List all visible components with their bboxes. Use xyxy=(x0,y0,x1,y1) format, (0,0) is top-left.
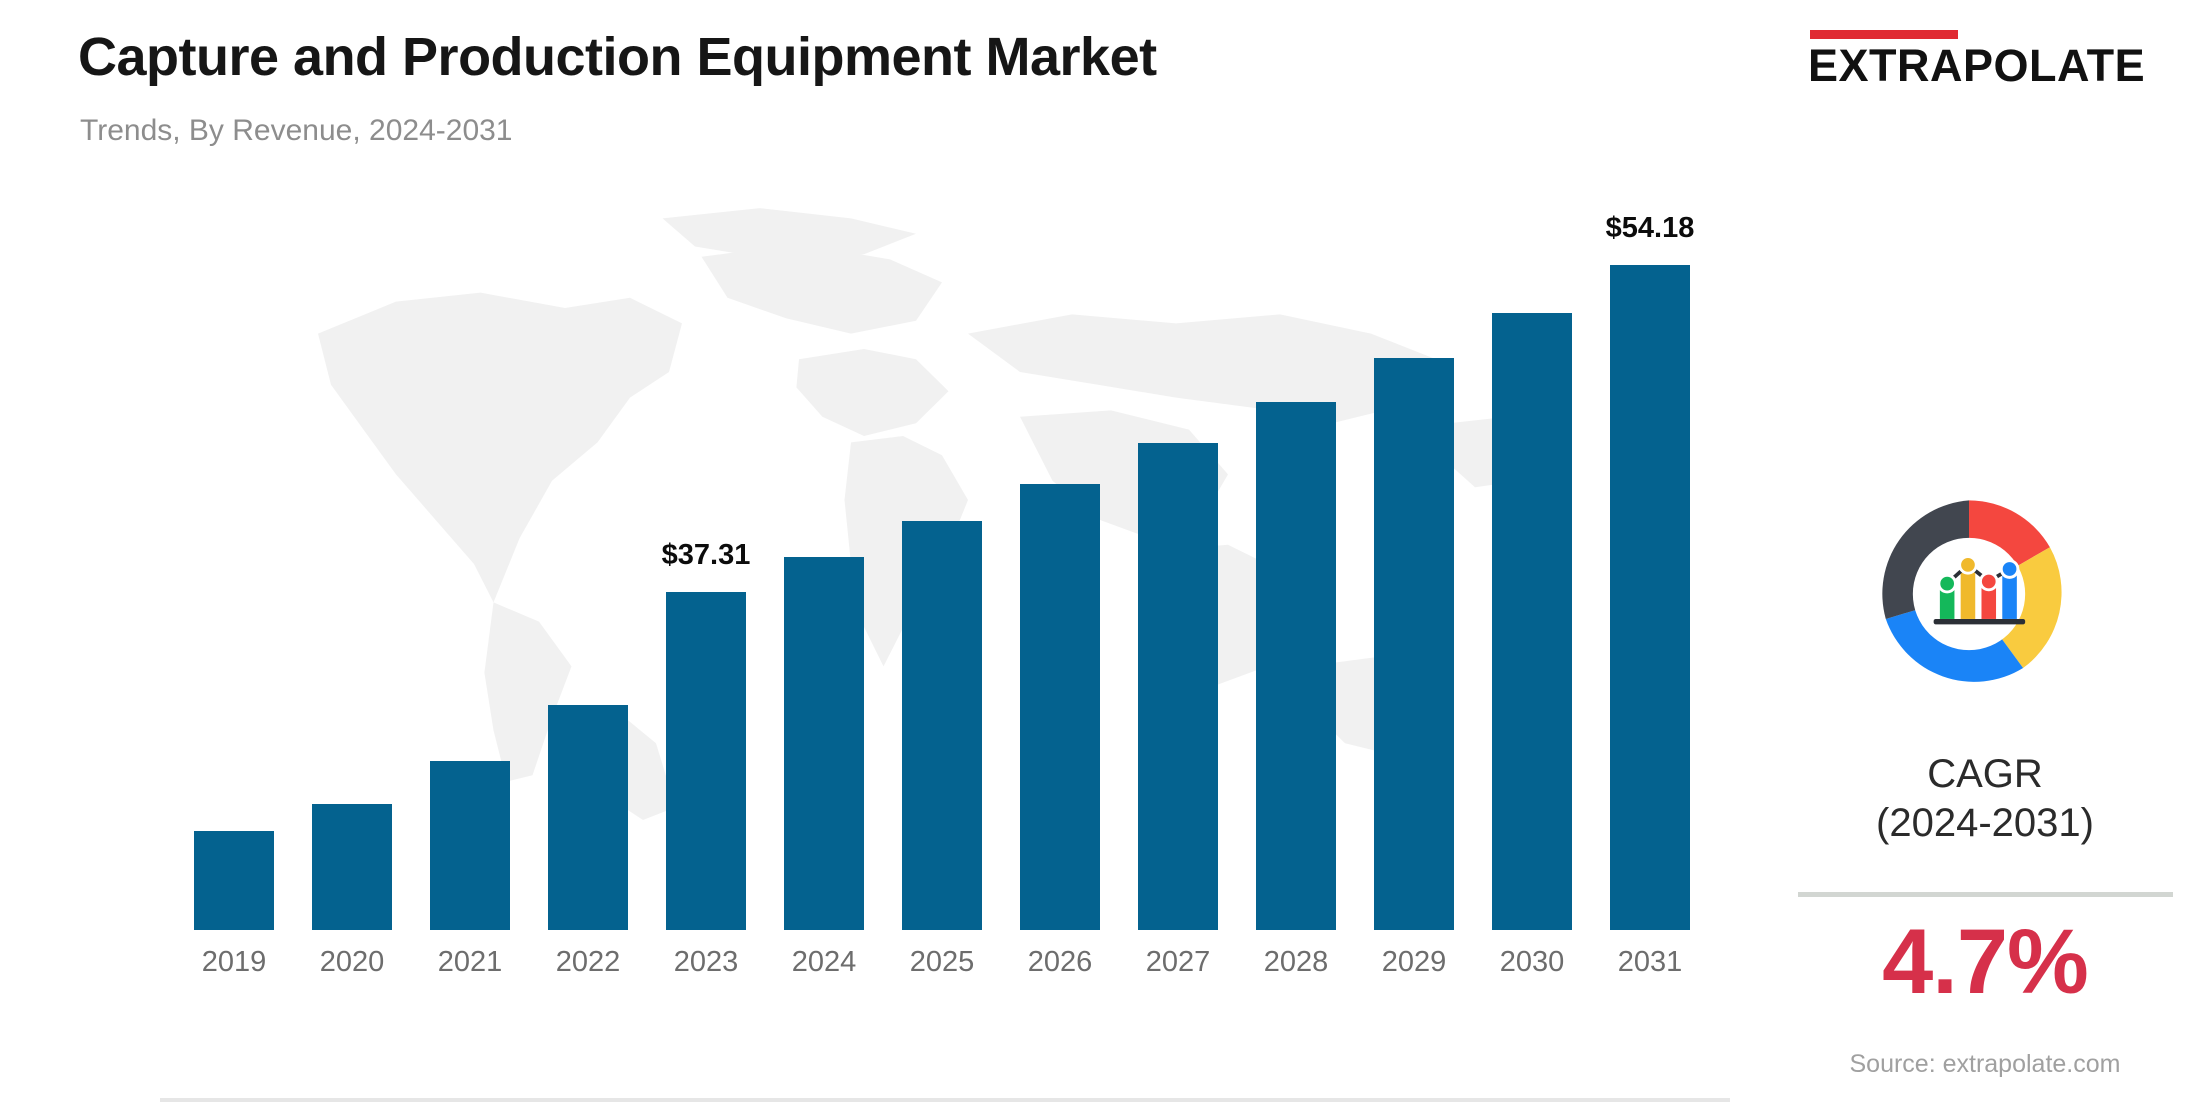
plot-area: 20192020202120222023$37.3120242025202620… xyxy=(175,210,1720,930)
logo-accent-bar xyxy=(1810,30,1958,39)
x-tick-2021: 2021 xyxy=(411,946,529,979)
bar-group-2029[interactable]: 2029 xyxy=(1355,210,1473,930)
cagr-label-line2: (2024-2031) xyxy=(1770,799,2200,848)
bar-group-2020[interactable]: 2020 xyxy=(293,210,411,930)
source-text: Source: extrapolate.com xyxy=(1770,1050,2200,1079)
bar-2026[interactable] xyxy=(1020,484,1100,930)
bar-chart-donut-icon xyxy=(1865,490,2073,698)
cagr-value: 4.7% xyxy=(1770,910,2200,1015)
bar-2020[interactable] xyxy=(312,804,392,930)
x-tick-2029: 2029 xyxy=(1355,946,1473,979)
x-tick-2019: 2019 xyxy=(175,946,293,979)
page-subtitle: Trends, By Revenue, 2024-2031 xyxy=(80,114,513,148)
bar-2021[interactable] xyxy=(430,761,510,930)
bar-group-2024[interactable]: 2024 xyxy=(765,210,883,930)
bar-2027[interactable] xyxy=(1138,443,1218,930)
bar-group-2023[interactable]: 2023$37.31 xyxy=(647,210,765,930)
x-tick-2024: 2024 xyxy=(765,946,883,979)
extrapolate-logo: EXTRAPOLATE xyxy=(1786,30,2158,98)
cagr-divider xyxy=(1798,892,2173,897)
bar-group-2031[interactable]: 2031$54.18 xyxy=(1591,210,1709,930)
x-axis-line xyxy=(160,1098,1730,1102)
bar-2023[interactable] xyxy=(666,592,746,930)
bar-group-2026[interactable]: 2026 xyxy=(1001,210,1119,930)
x-tick-2023: 2023 xyxy=(647,946,765,979)
bar-group-2030[interactable]: 2030 xyxy=(1473,210,1591,930)
bar-group-2021[interactable]: 2021 xyxy=(411,210,529,930)
cagr-panel: CAGR (2024-2031) 4.7% Source: extrapolat… xyxy=(1770,170,2200,1100)
bar-group-2019[interactable]: 2019 xyxy=(175,210,293,930)
bar-2029[interactable] xyxy=(1374,358,1454,931)
logo-wordmark: EXTRAPOLATE xyxy=(1808,40,2145,92)
bar-2022[interactable] xyxy=(548,705,628,930)
bar-2025[interactable] xyxy=(902,521,982,930)
bar-2030[interactable] xyxy=(1492,313,1572,930)
x-tick-2022: 2022 xyxy=(529,946,647,979)
cagr-label-line1: CAGR xyxy=(1770,750,2200,799)
x-tick-2027: 2027 xyxy=(1119,946,1237,979)
x-tick-2026: 2026 xyxy=(1001,946,1119,979)
bar-group-2027[interactable]: 2027 xyxy=(1119,210,1237,930)
bar-2028[interactable] xyxy=(1256,402,1336,930)
x-tick-2030: 2030 xyxy=(1473,946,1591,979)
page-title: Capture and Production Equipment Market xyxy=(78,26,1157,88)
bar-2031[interactable] xyxy=(1610,265,1690,930)
x-tick-2028: 2028 xyxy=(1237,946,1355,979)
bar-group-2025[interactable]: 2025 xyxy=(883,210,1001,930)
value-label-2031: $54.18 xyxy=(1535,212,1765,245)
bar-group-2028[interactable]: 2028 xyxy=(1237,210,1355,930)
bar-2019[interactable] xyxy=(194,831,274,930)
bar-2024[interactable] xyxy=(784,557,864,930)
page-header: Capture and Production Equipment Market … xyxy=(0,0,2200,170)
x-tick-2031: 2031 xyxy=(1591,946,1709,979)
cagr-label: CAGR (2024-2031) xyxy=(1770,750,2200,848)
x-tick-2025: 2025 xyxy=(883,946,1001,979)
x-tick-2020: 2020 xyxy=(293,946,411,979)
bar-chart: Market Size in Billion 20192020202120222… xyxy=(0,170,1760,1030)
